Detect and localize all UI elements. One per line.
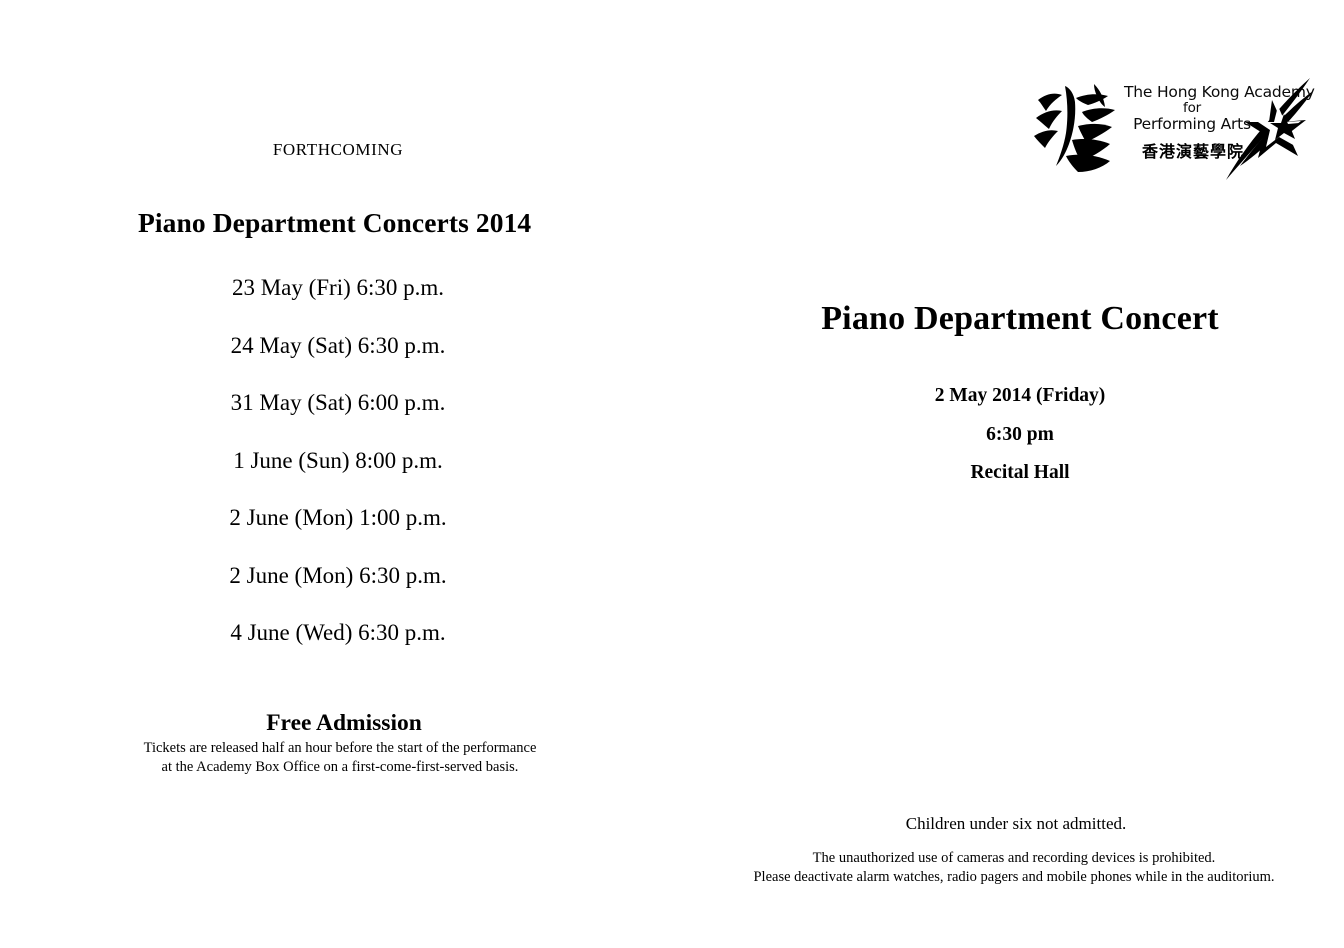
notice-cameras: The unauthorized use of cameras and reco…	[714, 849, 1314, 868]
list-item: 24 May (Sat) 6:30 p.m.	[138, 332, 538, 360]
concert-date-list: 23 May (Fri) 6:30 p.m. 24 May (Sat) 6:30…	[138, 274, 538, 677]
concert-date: 2 May 2014 (Friday)	[770, 386, 1270, 406]
list-item: 23 May (Fri) 6:30 p.m.	[138, 274, 538, 302]
list-item: 4 June (Wed) 6:30 p.m.	[138, 619, 538, 647]
list-item: 31 May (Sat) 6:00 p.m.	[138, 389, 538, 417]
concert-details: 2 May 2014 (Friday) 6:30 pm Recital Hall	[770, 386, 1270, 502]
chinese-calligraphy-mark	[1032, 78, 1132, 178]
list-item: 1 June (Sun) 8:00 p.m.	[138, 447, 538, 475]
notice-devices: Please deactivate alarm watches, radio p…	[714, 868, 1314, 887]
tickets-note: Tickets are released half an hour before…	[110, 739, 570, 777]
notice-house-rules: The unauthorized use of cameras and reco…	[714, 849, 1314, 887]
page-title: Piano Department Concert	[770, 300, 1270, 338]
forthcoming-label: FORTHCOMING	[138, 140, 538, 160]
list-item: 2 June (Mon) 6:30 p.m.	[138, 562, 538, 590]
tickets-note-line-2: at the Academy Box Office on a first-com…	[110, 758, 570, 777]
list-item: 2 June (Mon) 1:00 p.m.	[138, 504, 538, 532]
free-admission-heading: Free Admission	[138, 710, 550, 737]
hkapa-logo: The Hong Kong Academy for Performing Art…	[1032, 72, 1310, 184]
program-page: The Hong Kong Academy for Performing Art…	[0, 0, 1344, 948]
concert-venue: Recital Hall	[770, 463, 1270, 483]
notice-children: Children under six not admitted.	[766, 814, 1266, 834]
tickets-note-line-1: Tickets are released half an hour before…	[110, 739, 570, 758]
concert-time: 6:30 pm	[770, 425, 1270, 445]
series-title: Piano Department Concerts 2014	[138, 207, 550, 239]
shooting-star-icon	[1214, 70, 1324, 182]
